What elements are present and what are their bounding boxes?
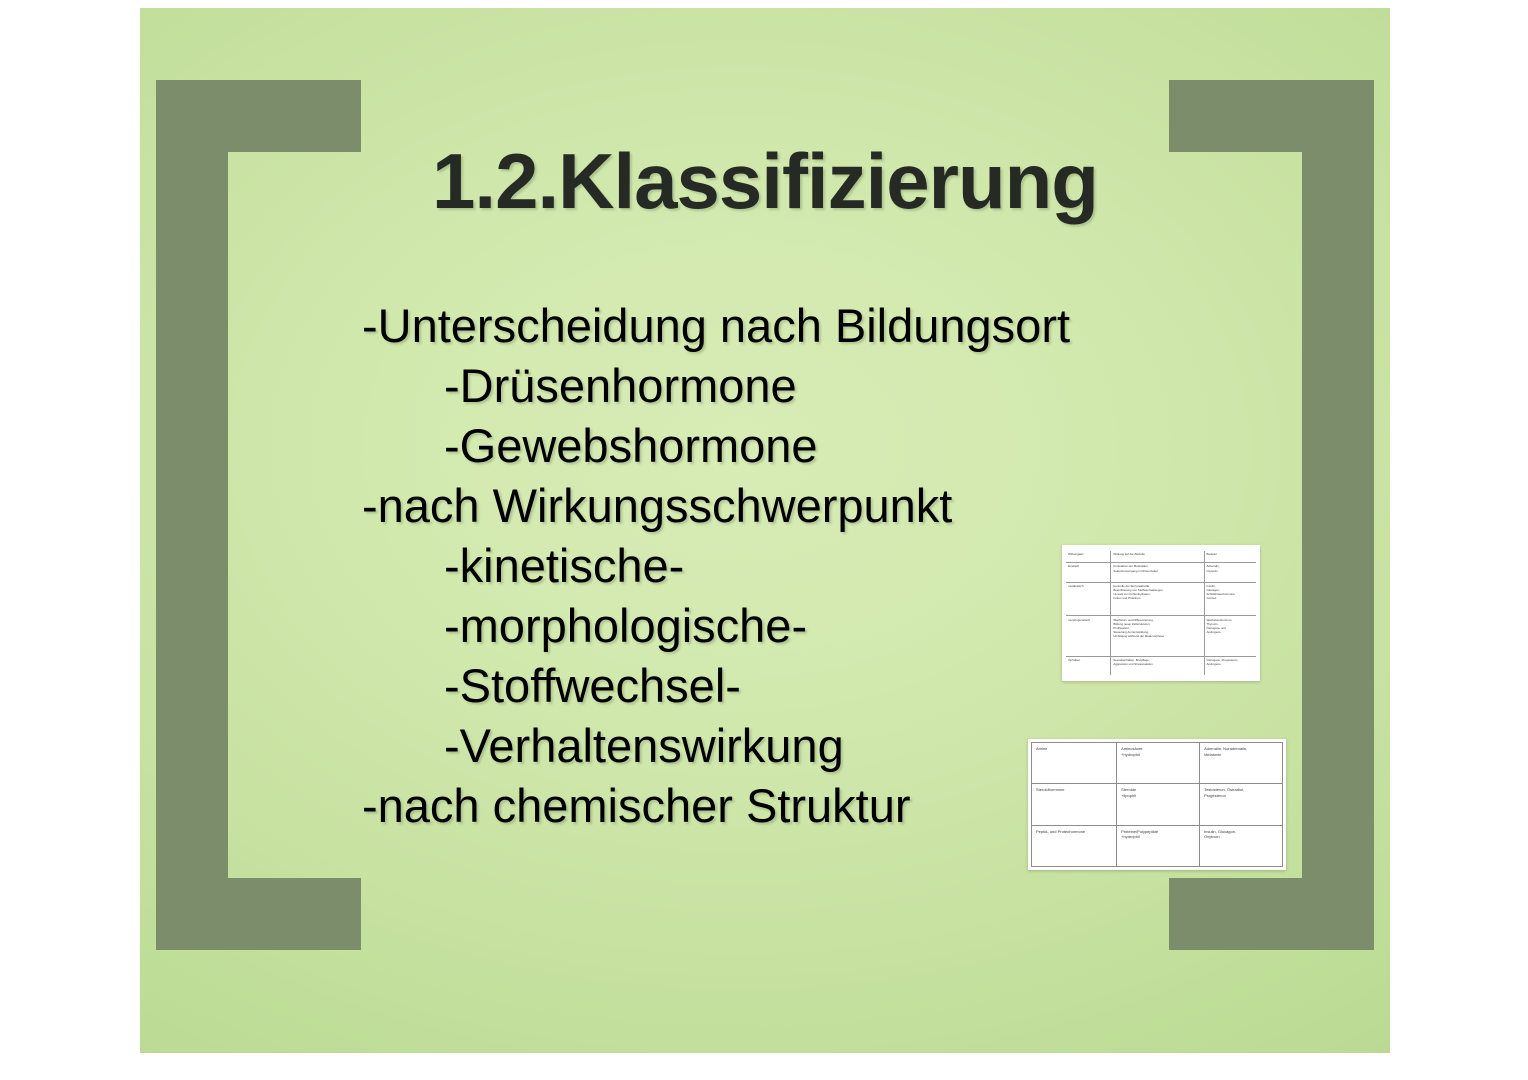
table-cell: Steroidhormone: [1032, 784, 1117, 825]
table-cell-line: +lipophil: [1121, 793, 1195, 799]
table-cell-line: Cortisol: [1207, 596, 1254, 600]
table-cell: Adrenalin,Oxytocin: [1204, 563, 1256, 583]
table-row: morphogenetisch Wachstum und Differenzie…: [1066, 616, 1256, 656]
table-header-cell: Wirkungsart: [1066, 551, 1111, 563]
bullet-line: -Unterscheidung nach Bildungsort: [362, 296, 1222, 356]
table-cell-line: Progesteron: [1204, 793, 1278, 799]
table-header-cell: Wirkung auf die Zielzelle: [1111, 551, 1204, 563]
hormone-effects-table: Wirkungsart Wirkung auf die Zielzelle Be…: [1062, 545, 1260, 681]
hormone-chemical-structure-table: Amine Aminosäure+hydrophil Adrenalin, No…: [1028, 739, 1286, 870]
table-cell-line: +hydrophil: [1121, 752, 1195, 758]
table-cell: Aminosäure+hydrophil: [1117, 743, 1200, 784]
table-cell-line: Umbildung während der Metamorphose: [1113, 634, 1201, 638]
table-cell: Kontraktion der Muskulatur,Sekretionsvor…: [1111, 563, 1204, 583]
table-row: Amine Aminosäure+hydrophil Adrenalin, No…: [1032, 743, 1283, 784]
table-cell-line: Melatonin: [1204, 752, 1278, 758]
table-cell: Kontrolle der Enzymaktivität,Beeinflussu…: [1111, 582, 1204, 615]
table-cell-line: Aggression und Stressreaktion: [1113, 662, 1201, 666]
table-cell-line: Peptid- und Proteohormone: [1036, 829, 1112, 835]
table-cell: Steroide+lipophil: [1117, 784, 1200, 825]
slide-title: 1.2.Klassifizierung: [140, 136, 1390, 227]
bullet-line: -Gewebshormone: [444, 416, 1222, 476]
table-row: Verhalten Sexualverhalten, Brutpflege,Ag…: [1066, 656, 1256, 675]
table-cell-line: Oxytocin: [1204, 834, 1278, 840]
table-cell: Östrogene, Progesteron,Androgene: [1204, 656, 1256, 675]
table-row: Steroidhormone Steroide+lipophil Testost…: [1032, 784, 1283, 825]
table-row: Peptid- und Proteohormone Proteine/Polyp…: [1032, 825, 1283, 866]
table-cell-line: Oxytocin: [1207, 569, 1254, 573]
table-cell-line: +hydrophil: [1121, 834, 1195, 840]
corner-bracket-bottom-left-horizontal: [156, 878, 361, 950]
table-cell: Proteine/Polypeptide+hydrophil: [1117, 825, 1200, 866]
table-chemical-grid: Amine Aminosäure+hydrophil Adrenalin, No…: [1031, 742, 1283, 867]
table-cell-line: Fetten und Proteinen: [1113, 596, 1201, 600]
bullet-line: -Drüsenhormone: [444, 356, 1222, 416]
table-cell-line: Androgene: [1207, 662, 1254, 666]
table-header-cell: Beispiel: [1204, 551, 1256, 563]
table-cell: Wachstumshormon,Thyroxin,Östrogene undAn…: [1204, 616, 1256, 656]
table-cell-line: Sekretionsvorgang in Drüsenzellen: [1113, 569, 1201, 573]
presentation-slide: 1.2.Klassifizierung -Unterscheidung nach…: [140, 8, 1390, 1053]
table-cell-line: Androgene: [1207, 630, 1254, 634]
table-cell: Sexualverhalten, Brutpflege,Aggression u…: [1111, 656, 1204, 675]
bullet-line: -nach Wirkungsschwerpunkt: [362, 476, 1222, 536]
table-cell: Verhalten: [1066, 656, 1111, 675]
table-cell: morphogenetisch: [1066, 616, 1111, 656]
table-cell: Adrenalin, Noradrenalin,Melatonin: [1200, 743, 1283, 784]
table-row: kinetisch Kontraktion der Muskulatur,Sek…: [1066, 563, 1256, 583]
table-cell: Testosteron, Östradiol,Progesteron: [1200, 784, 1283, 825]
table-cell: Wachstum und Differenzierung,Bildung neu…: [1111, 616, 1204, 656]
table-effects-grid: Wirkungsart Wirkung auf die Zielzelle Be…: [1066, 551, 1256, 675]
table-cell: kinetisch: [1066, 563, 1111, 583]
table-row: Wirkungsart Wirkung auf die Zielzelle Be…: [1066, 551, 1256, 563]
table-cell: Amine: [1032, 743, 1117, 784]
table-cell: Peptid- und Proteohormone: [1032, 825, 1117, 866]
table-cell: Insulin,Glucagon,Schilddrüsenhormone,Cor…: [1204, 582, 1256, 615]
corner-bracket-bottom-right-horizontal: [1169, 878, 1374, 950]
table-cell: metabolisch: [1066, 582, 1111, 615]
table-row: metabolisch Kontrolle der Enzymaktivität…: [1066, 582, 1256, 615]
table-cell: Insulin, Glucagon,Oxytocin: [1200, 825, 1283, 866]
